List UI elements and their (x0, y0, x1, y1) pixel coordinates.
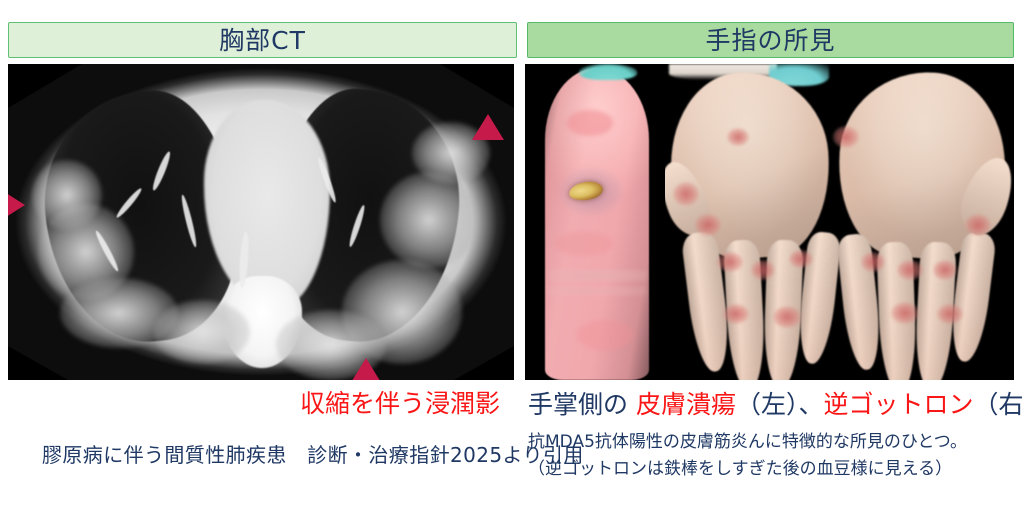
both-palms-photo (665, 64, 1014, 380)
slide-root: 胸部CT 収縮を伴う浸潤影 膠原病に伴う間質性肺疾患 診断・治療指針2 (0, 0, 1024, 514)
finger-tip-teal-edge (579, 64, 637, 80)
panel-header-chest-ct-label: 胸部CT (219, 28, 306, 53)
caption-part-skin-ulcer: 皮膚潰瘍 (636, 390, 736, 419)
reverse-gottron-lesion (723, 304, 749, 324)
ct-arrowhead-upper-right (472, 114, 504, 140)
finger-findings-caption: 手掌側の 皮膚潰瘍（左）、逆ゴットロン（右） (528, 390, 1024, 420)
ct-source-citation: 膠原病に伴う間質性肺疾患 診断・治療指針2025より引用 (42, 444, 584, 468)
panel-header-chest-ct: 胸部CT (8, 22, 517, 58)
panel-header-finger-findings-label: 手指の所見 (705, 28, 835, 53)
finger-erythema (577, 320, 633, 350)
reverse-gottron-lesion (891, 302, 919, 324)
reverse-gottron-lesion (717, 252, 743, 272)
ct-arrowhead-left (8, 188, 25, 222)
reverse-gottron-lesion (897, 260, 923, 280)
caption-part-reverse-gottron: 逆ゴットロン (823, 390, 973, 419)
chest-ct-image (8, 64, 514, 380)
finger-findings-note-line-1: 抗MDA5抗体陽性の皮膚筋炎んに特徴的な所見のひとつ。 (528, 432, 967, 452)
reverse-gottron-lesion (673, 182, 699, 206)
ct-annotation-label: 収縮を伴う浸潤影 (300, 389, 500, 419)
finger-joint-crease (547, 269, 647, 282)
reverse-gottron-lesion (933, 260, 957, 280)
reverse-gottron-lesion (789, 250, 813, 268)
reverse-gottron-lesion (695, 214, 721, 236)
reverse-gottron-lesion (833, 126, 859, 148)
reverse-gottron-lesion (861, 252, 885, 272)
ct-consolidation-patch (32, 160, 102, 230)
finger-joint-crease (547, 286, 647, 296)
finger-ulcer-photo (525, 64, 670, 380)
reverse-gottron-lesion (773, 306, 801, 328)
caption-part-navy-1: 手掌側の (528, 390, 636, 419)
reverse-gottron-lesion (751, 260, 775, 280)
reverse-gottron-lesion (965, 214, 991, 236)
ct-arrowhead-lower (350, 358, 382, 380)
ct-consolidation-patch (154, 300, 250, 364)
finger-findings-note-line-2: （逆ゴットロンは鉄棒をしすぎた後の血豆様に見える） (528, 459, 952, 479)
ct-consolidation-patch (380, 172, 478, 268)
caption-part-navy-2: （左）、 (736, 390, 824, 419)
panel-header-finger-findings: 手指の所見 (527, 22, 1014, 58)
reverse-gottron-lesion (937, 304, 963, 324)
finger-erythema (555, 232, 613, 256)
caption-part-navy-3: （右） (974, 390, 1024, 419)
reverse-gottron-lesion (727, 128, 749, 146)
finger-erythema (567, 110, 613, 136)
